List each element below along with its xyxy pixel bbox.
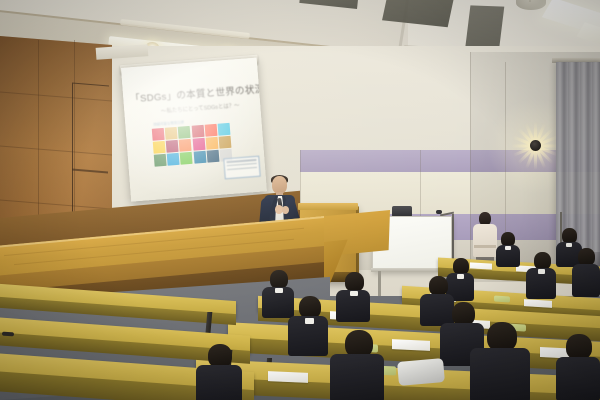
sdg-goal-icon [180, 152, 193, 165]
student [526, 252, 556, 298]
lectern-top [298, 203, 358, 210]
folded-cloth [397, 358, 445, 386]
sdg-goal-icon [219, 136, 232, 149]
wall-seam [470, 52, 471, 270]
attendee-coat-belt [474, 245, 496, 248]
student [572, 248, 600, 296]
sdg-goal-icon [152, 128, 165, 141]
student [470, 322, 530, 400]
sdg-goal-icon [154, 154, 167, 167]
student [330, 330, 384, 400]
photo-scene: 「SDGs」の本質と世界の状況 ～私たちにとってSDGsとは？～ 持続可能な開発… [0, 0, 600, 400]
sdg-goal-icon [205, 137, 218, 150]
sdg-goal-icon-grid [152, 123, 233, 167]
sdg-goal-icon [206, 150, 219, 163]
sdg-goal-icon [166, 140, 179, 153]
handout-paper [392, 339, 430, 351]
sdg-goal-icon [217, 123, 230, 136]
slide-source-note [223, 156, 261, 180]
handout-paper [268, 371, 308, 383]
sdg-goal-icon [178, 126, 191, 139]
pen [2, 332, 14, 337]
microphone-head-icon [436, 210, 442, 214]
sdg-goal-icon [191, 125, 204, 138]
student [336, 272, 370, 320]
whiteboard-leg [378, 271, 381, 297]
sconce-core [530, 140, 541, 151]
student [288, 296, 328, 354]
sdg-goal-icon [204, 124, 217, 137]
presenter-hand [282, 206, 289, 214]
sdg-goal-icon [192, 138, 205, 151]
projection-screen[interactable]: 「SDGs」の本質と世界の状況 ～私たちにとってSDGsとは？～ 持続可能な開発… [121, 58, 267, 202]
student [496, 232, 520, 266]
sdg-goal-icon [179, 139, 192, 152]
green-folder [494, 296, 510, 303]
sdg-goal-icon [165, 127, 178, 140]
student [556, 334, 600, 400]
sdg-goal-icon [193, 151, 206, 164]
student [196, 344, 242, 400]
sdg-goal-icon [153, 141, 166, 154]
attendee-coat [473, 224, 497, 257]
sdg-goal-icon [167, 153, 180, 166]
